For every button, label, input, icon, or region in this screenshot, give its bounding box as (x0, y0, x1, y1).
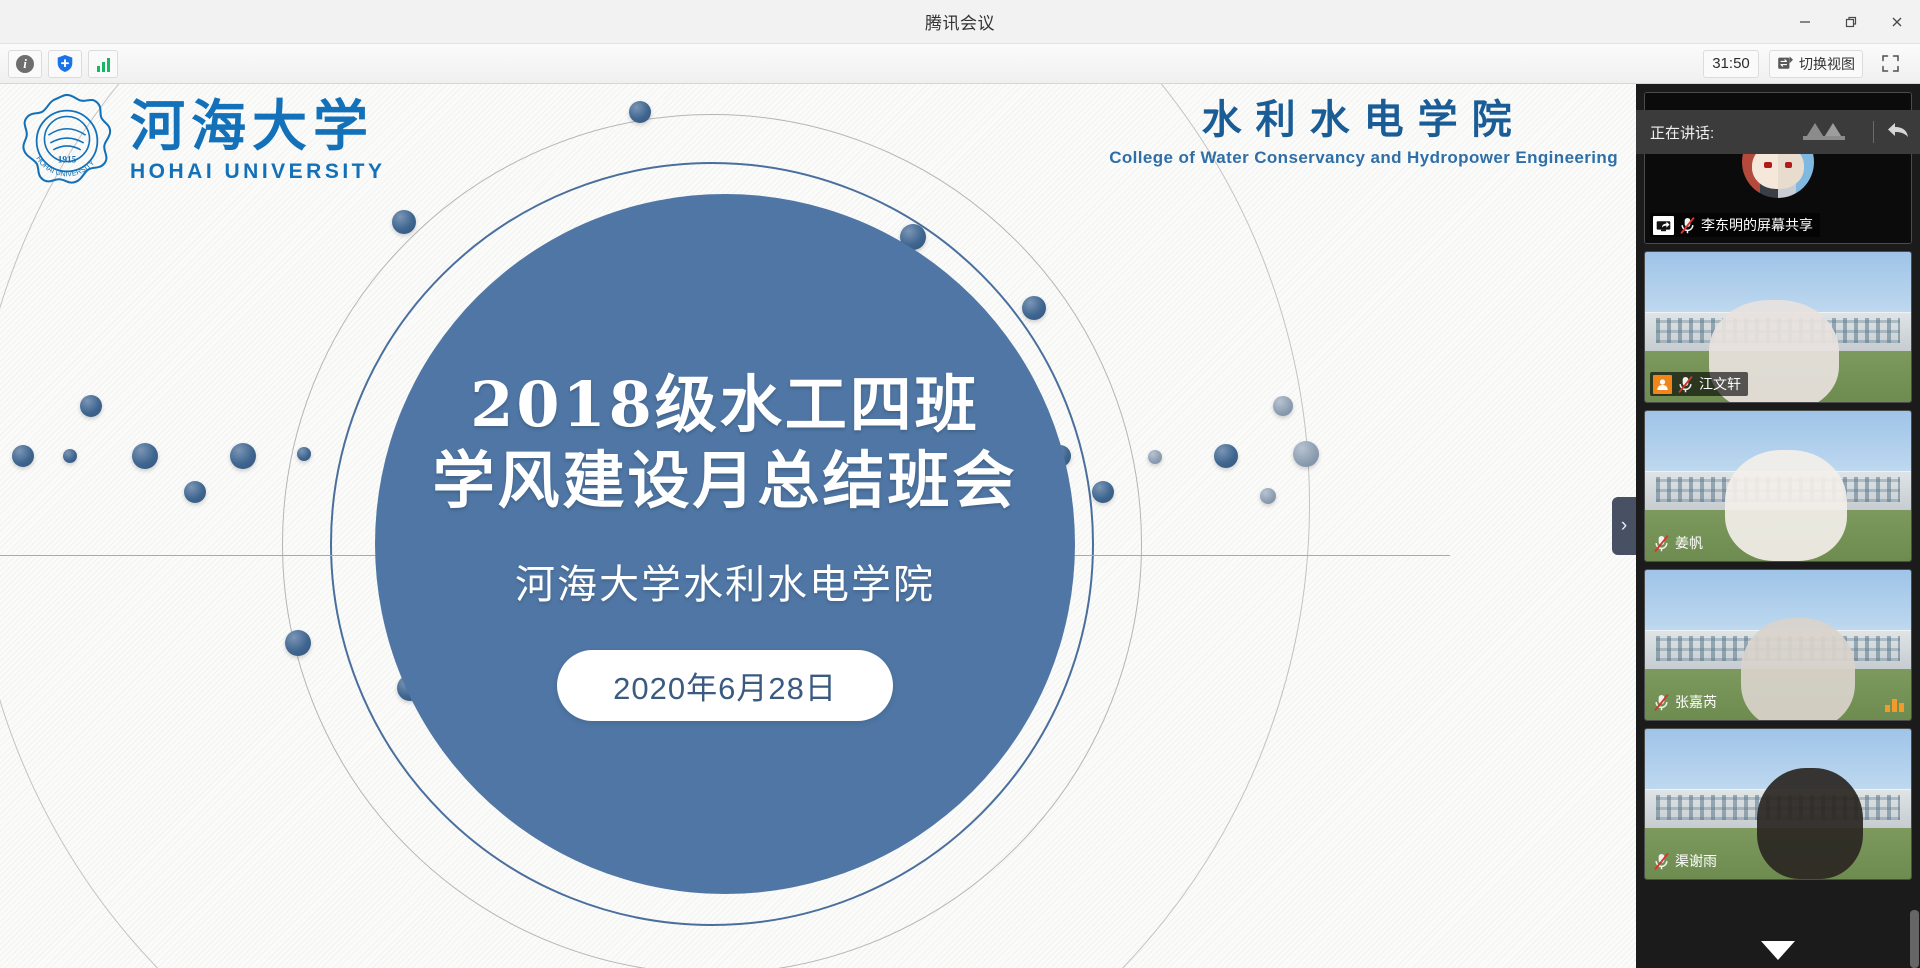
decorative-dot (297, 447, 311, 461)
panel-scrollbar[interactable] (1910, 910, 1919, 968)
switch-view-icon (1777, 55, 1794, 72)
window-controls (1782, 0, 1920, 44)
mic-muted-icon (1653, 852, 1670, 871)
decorative-dot (184, 481, 206, 503)
participant-name: 张嘉芮 (1675, 692, 1717, 712)
tile-label: 张嘉芮 (1650, 690, 1724, 714)
slide-title-line-1: 2018级水工四班 (432, 367, 1017, 443)
screen-share-icon (1653, 216, 1674, 235)
collapse-video-panel-button[interactable]: › (1612, 497, 1636, 555)
participant-silhouette (1741, 618, 1855, 721)
shared-screen-stage[interactable]: 2018级水工四班 学风建设月总结班会 河海大学水利水电学院 2020年6月28… (0, 84, 1636, 968)
decorative-dot (132, 443, 158, 469)
shield-plus-icon (56, 54, 74, 73)
meeting-info-button[interactable]: i (8, 50, 42, 78)
university-wordmark: 河海大学 HOHAI UNIVERSITY (130, 98, 386, 184)
decorative-dot (629, 101, 651, 123)
decorative-dot (12, 445, 34, 467)
participant-name: 李东明的屏幕共享 (1701, 215, 1813, 235)
university-logo: 1915 HOHAI UNIVERSITY 河海大学 HOHAI UNIVERS… (18, 92, 386, 190)
college-name-cn: 水利水电学院 (1109, 98, 1618, 142)
decorative-dot (1214, 444, 1238, 468)
toolbar-left-group: i (0, 50, 118, 78)
slide-subtitle: 河海大学水利水电学院 (515, 552, 935, 610)
restore-button[interactable] (1828, 0, 1874, 44)
mic-muted-icon (1653, 693, 1670, 712)
decorative-dot (1293, 441, 1319, 467)
active-speaker-label: 正在讲话: (1650, 122, 1714, 143)
slide-title: 2018级水工四班 学风建设月总结班会 (432, 367, 1017, 518)
decorative-dot (285, 630, 311, 656)
meeting-toolbar: i 31:50 切换视图 (0, 44, 1920, 84)
decorative-dot (1273, 396, 1293, 416)
mic-muted-icon (1677, 375, 1694, 394)
participant-name: 渠谢雨 (1675, 851, 1717, 871)
video-tile-list: 李东明的屏幕共享 江文轩 姜帆 张嘉芮 (1636, 84, 1920, 968)
participant-silhouette (1757, 768, 1863, 879)
active-speaker-bar: 正在讲话: (1636, 110, 1920, 154)
decorative-dot (1260, 488, 1276, 504)
decorative-dot (230, 443, 256, 469)
svg-text:1915: 1915 (58, 156, 77, 166)
tencent-meeting-logo-icon (1801, 119, 1861, 145)
participant-silhouette (1725, 450, 1847, 561)
hohai-seal-icon: 1915 HOHAI UNIVERSITY (18, 92, 116, 190)
security-button[interactable] (48, 50, 82, 78)
video-tile[interactable]: 姜帆 (1644, 410, 1912, 562)
scroll-down-button[interactable] (1761, 941, 1795, 960)
university-name-cn: 河海大学 (130, 98, 386, 153)
close-button[interactable] (1874, 0, 1920, 44)
minimize-button[interactable] (1782, 0, 1828, 44)
fullscreen-button[interactable] (1873, 50, 1908, 78)
volume-meter-icon (1885, 696, 1904, 712)
tile-label: 李东明的屏幕共享 (1650, 213, 1820, 237)
college-logo: 水利水电学院 College of Water Conservancy and … (1109, 98, 1618, 168)
decorative-dot (1022, 296, 1046, 320)
video-tile[interactable]: 江文轩 (1644, 251, 1912, 403)
college-name-en: College of Water Conservancy and Hydropo… (1109, 148, 1618, 168)
tile-label: 渠谢雨 (1650, 849, 1724, 873)
slide-title-line-2: 学风建设月总结班会 (432, 443, 1017, 519)
participant-video-panel: 李东明的屏幕共享 江文轩 姜帆 张嘉芮 (1636, 84, 1920, 968)
fullscreen-icon (1881, 54, 1900, 73)
chevron-right-icon: › (1621, 515, 1627, 537)
video-tile[interactable]: 渠谢雨 (1644, 728, 1912, 880)
window-title: 腾讯会议 (925, 9, 995, 34)
decorative-dot (392, 210, 416, 234)
switch-view-button[interactable]: 切换视图 (1769, 50, 1863, 78)
speaking-bar-divider (1873, 121, 1874, 143)
decorative-dot (1148, 450, 1162, 464)
slide-center-disc: 2018级水工四班 学风建设月总结班会 河海大学水利水电学院 2020年6月28… (375, 194, 1075, 894)
switch-view-label: 切换视图 (1799, 54, 1855, 74)
participant-name: 姜帆 (1675, 533, 1703, 553)
video-tile[interactable]: 张嘉芮 (1644, 569, 1912, 721)
decorative-dot (63, 449, 77, 463)
decorative-dot (1092, 481, 1114, 503)
mic-muted-icon (1679, 216, 1696, 235)
participant-name: 江文轩 (1699, 374, 1741, 394)
window-titlebar: 腾讯会议 (0, 0, 1920, 44)
info-icon: i (16, 55, 34, 73)
university-name-en: HOHAI UNIVERSITY (130, 160, 386, 184)
decorative-dot (80, 395, 102, 417)
presentation-slide: 2018级水工四班 学风建设月总结班会 河海大学水利水电学院 2020年6月28… (0, 84, 1636, 968)
back-arrow-icon[interactable] (1886, 120, 1910, 144)
tile-label: 姜帆 (1650, 531, 1710, 555)
mic-muted-icon (1653, 534, 1670, 553)
tile-label: 江文轩 (1650, 372, 1748, 396)
slide-date-badge: 2020年6月28日 (557, 650, 893, 721)
signal-bars-icon (97, 56, 110, 72)
meeting-timer: 31:50 (1703, 50, 1759, 78)
toolbar-right-group: 31:50 切换视图 (1703, 50, 1920, 78)
network-status-button[interactable] (88, 50, 118, 78)
host-badge-icon (1653, 375, 1672, 394)
